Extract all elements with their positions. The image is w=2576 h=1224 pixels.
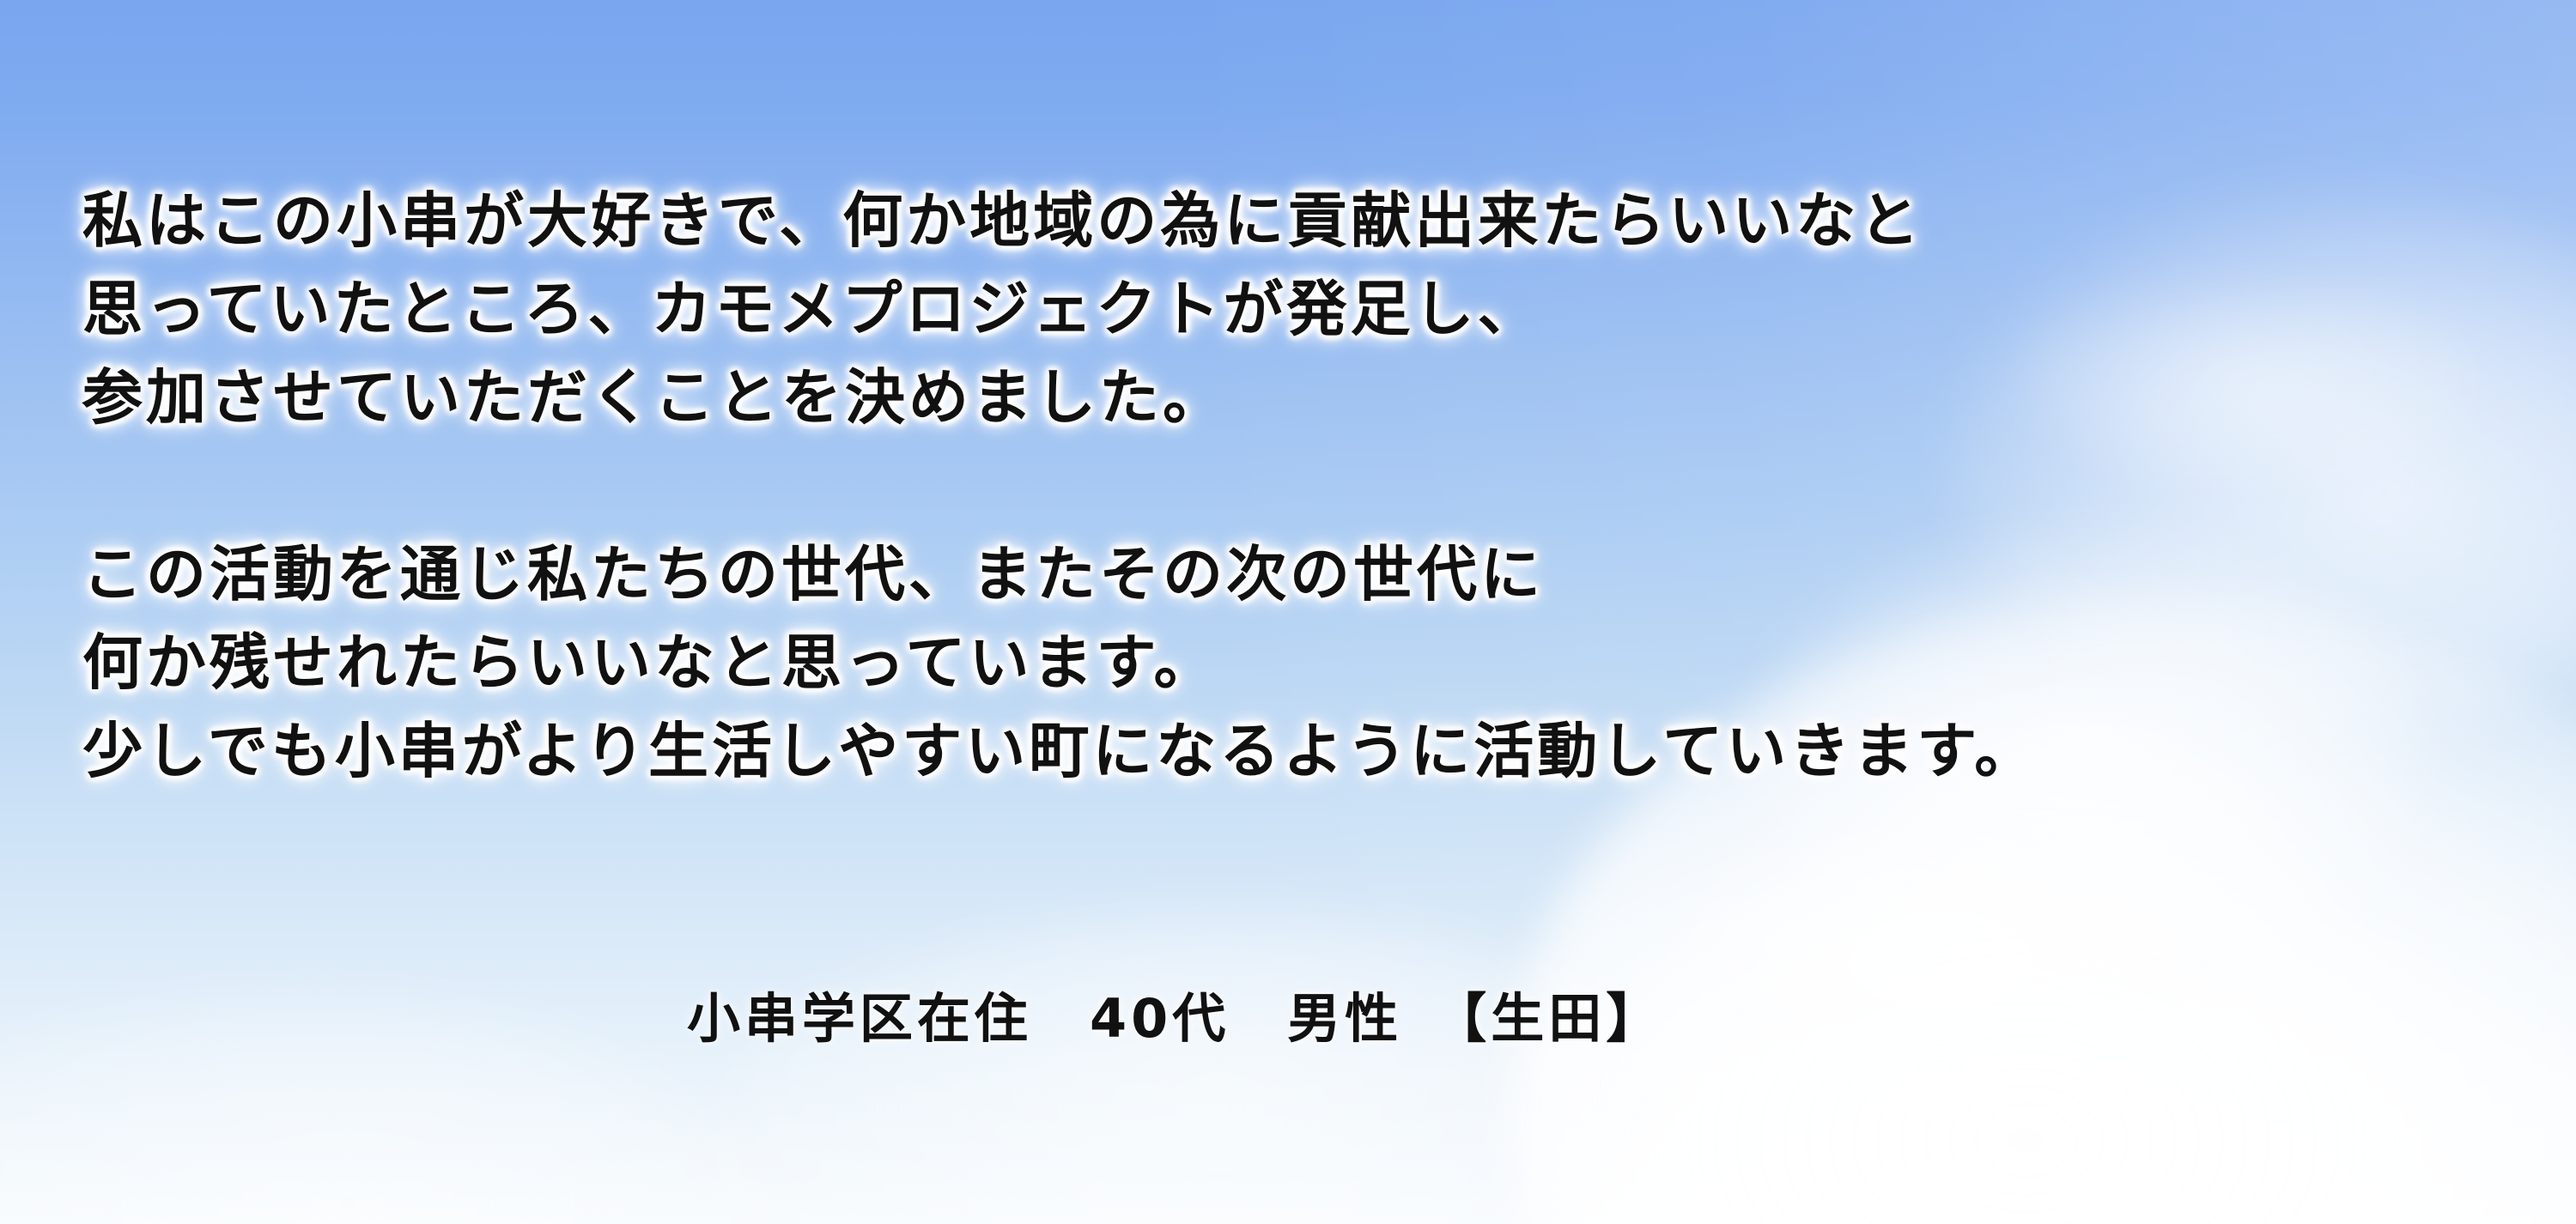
testimonial-line-4: この活動を通じ私たちの世代、またその次の世代に	[82, 530, 2418, 619]
paragraph-gap	[82, 442, 2418, 530]
testimonial-line-6: 少しでも小串がより生活しやすい町になるように活動していきます。	[82, 707, 2418, 796]
testimonial-attribution: 小串学区在住 40代 男性 【生田】	[687, 985, 1663, 1052]
testimonial-line-5: 何か残せれたらいいなと思っています。	[82, 619, 2418, 707]
testimonial-slide: 私はこの小串が大好きで、何か地域の為に貢献出来たらいいなと 思っていたところ、カ…	[0, 0, 2576, 1224]
testimonial-line-3: 参加させていただくことを決めました。	[82, 354, 2418, 442]
testimonial-line-1: 私はこの小串が大好きで、何か地域の為に貢献出来たらいいなと	[82, 177, 2418, 265]
testimonial-body: 私はこの小串が大好きで、何か地域の為に貢献出来たらいいなと 思っていたところ、カ…	[82, 177, 2418, 796]
testimonial-line-2: 思っていたところ、カモメプロジェクトが発足し、	[82, 265, 2418, 354]
